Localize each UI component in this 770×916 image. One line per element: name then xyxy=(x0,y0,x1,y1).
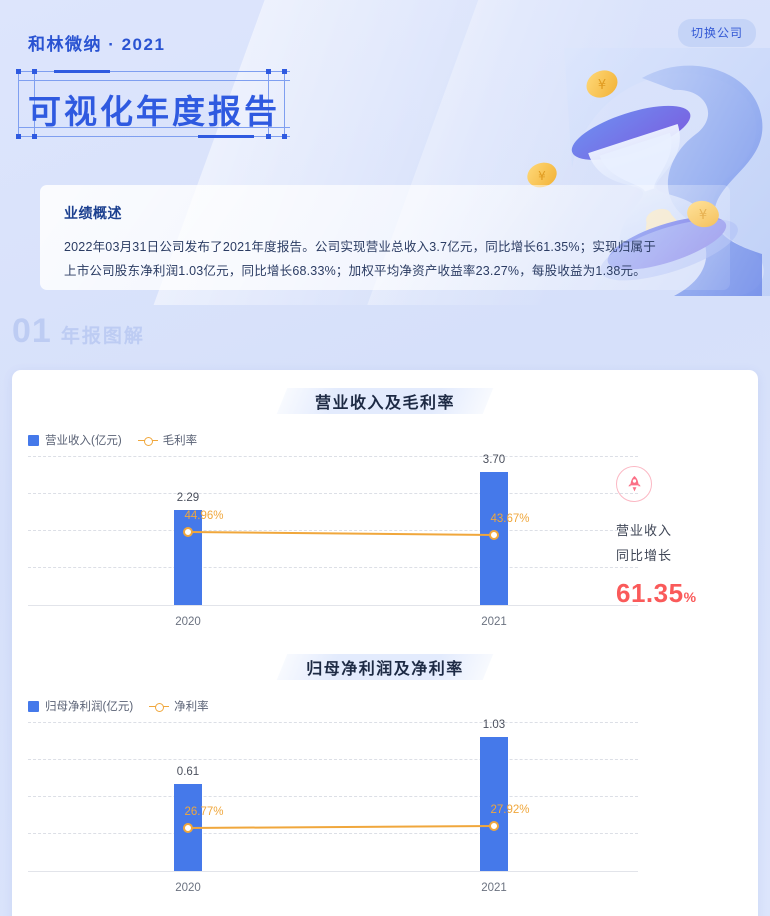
line-value-label: 43.67% xyxy=(490,513,529,525)
stat-label-line1: 营业收入 xyxy=(616,518,736,543)
chart-plot-area: 0.61 1.03 26.77% 27.92% 2020 2021 xyxy=(28,722,638,872)
section-number: 01 xyxy=(12,312,52,351)
stat-value: 61.35% xyxy=(616,578,736,609)
line-point-2021[interactable] xyxy=(489,821,499,831)
line-point-2020[interactable] xyxy=(183,527,193,537)
margin-line-series xyxy=(28,722,638,872)
stat-value-unit: % xyxy=(684,589,697,605)
legend-label-line: 毛利率 xyxy=(163,432,198,448)
line-point-2020[interactable] xyxy=(183,823,193,833)
chart-revenue-gross-margin: 营业收入及毛利率 营业收入(亿元) 毛利率 xyxy=(12,370,758,606)
chart-net-profit-margin: 归母净利润及净利率 归母净利润(亿元) 净利率 xyxy=(12,606,758,872)
report-main-title: 可视化年度报告 xyxy=(28,85,280,133)
svg-text:¥: ¥ xyxy=(598,78,606,93)
summary-body-text: 2022年03月31日公司发布了2021年度报告。公司实现营业总收入3.7亿元，… xyxy=(64,235,664,283)
legend-line-icon xyxy=(149,701,169,712)
charts-panel: 营业收入及毛利率 营业收入(亿元) 毛利率 xyxy=(12,370,758,916)
legend-swatch-icon xyxy=(28,701,39,712)
stat-revenue-growth: 营业收入 同比增长 61.35% xyxy=(616,466,736,609)
legend-line-icon xyxy=(138,435,158,446)
legend-label-bar: 营业收入(亿元) xyxy=(45,432,122,448)
summary-title: 业绩概述 xyxy=(64,203,708,223)
rocket-icon xyxy=(616,466,652,502)
legend-label-bar: 归母净利润(亿元) xyxy=(45,698,133,714)
legend-swatch-icon xyxy=(28,435,39,446)
report-page: ¥ ¥ ¥ 切换公司 和林微纳 · 2021 xyxy=(0,0,770,916)
legend-item-bar[interactable]: 营业收入(亿元) xyxy=(28,432,122,448)
section-header: 01 年报图解 xyxy=(12,312,145,351)
legend-item-bar[interactable]: 归母净利润(亿元) xyxy=(28,698,133,714)
line-value-label: 27.92% xyxy=(490,804,529,816)
svg-text:¥: ¥ xyxy=(538,169,546,183)
x-tick-2020: 2020 xyxy=(175,882,201,894)
legend-item-line[interactable]: 毛利率 xyxy=(138,432,198,448)
chart-legend: 归母净利润(亿元) 净利率 xyxy=(12,698,758,714)
chart-title-wrapper: 归母净利润及净利率 xyxy=(12,644,758,690)
legend-label-line: 净利率 xyxy=(174,698,209,714)
stat-label-line2: 同比增长 xyxy=(616,543,736,568)
switch-company-button[interactable]: 切换公司 xyxy=(678,19,756,47)
section-label: 年报图解 xyxy=(61,321,145,348)
legend-item-line[interactable]: 净利率 xyxy=(149,698,209,714)
chart-title-wrapper: 营业收入及毛利率 xyxy=(12,378,758,424)
line-value-label: 44.96% xyxy=(184,510,223,522)
margin-line-series xyxy=(28,456,638,606)
chart-legend: 营业收入(亿元) 毛利率 xyxy=(12,432,758,448)
line-value-label: 26.77% xyxy=(184,806,223,818)
stat-value-number: 61.35 xyxy=(616,578,684,608)
chart-title: 归母净利润及净利率 xyxy=(290,653,480,682)
line-point-2021[interactable] xyxy=(489,530,499,540)
x-tick-2021: 2021 xyxy=(481,882,507,894)
company-year-label: 和林微纳 · 2021 xyxy=(28,30,165,55)
hero-banner: ¥ ¥ ¥ 切换公司 和林微纳 · 2021 xyxy=(0,0,770,305)
performance-summary-card: 业绩概述 2022年03月31日公司发布了2021年度报告。公司实现营业总收入3… xyxy=(40,185,730,290)
chart-plot-area: 2.29 3.70 44.96% 43.67% 2020 2021 xyxy=(28,456,638,606)
chart-title: 营业收入及毛利率 xyxy=(299,387,471,416)
